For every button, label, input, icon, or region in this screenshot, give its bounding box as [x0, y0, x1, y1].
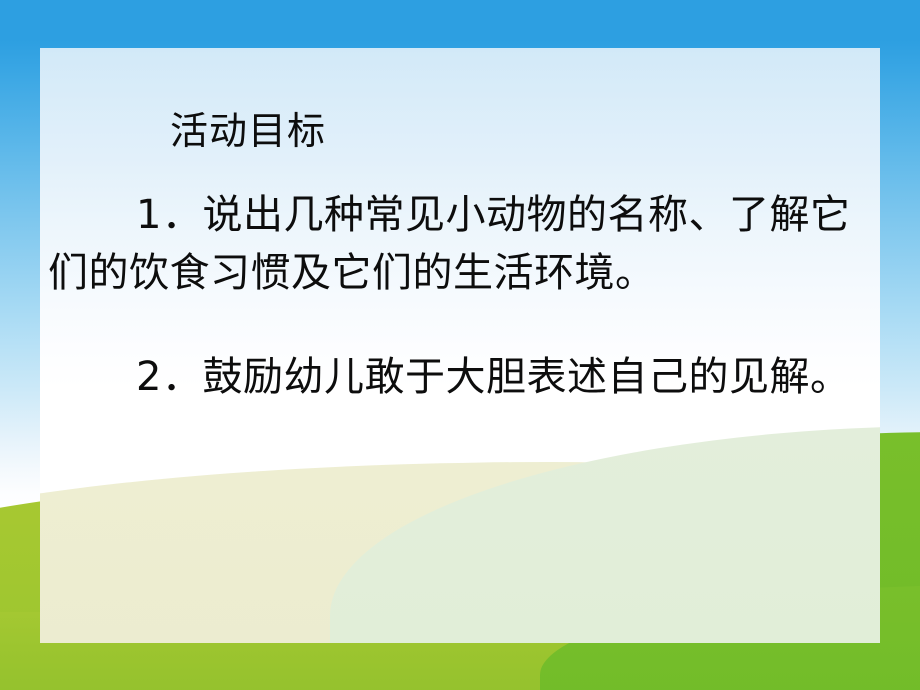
- slide-canvas: 活动目标 1．说出几种常见小动物的名称、了解它们的饮食习惯及它们的生活环境。 2…: [0, 0, 920, 690]
- objective-item-1: 1．说出几种常见小动物的名称、了解它们的饮食习惯及它们的生活环境。: [48, 186, 880, 302]
- content-card: 活动目标 1．说出几种常见小动物的名称、了解它们的饮食习惯及它们的生活环境。 2…: [40, 48, 880, 643]
- page-title: 活动目标: [170, 112, 326, 150]
- text-body: 活动目标 1．说出几种常见小动物的名称、了解它们的饮食习惯及它们的生活环境。 2…: [40, 48, 880, 643]
- objective-item-2: 2．鼓励幼儿敢于大胆表述自己的见解。: [48, 348, 880, 406]
